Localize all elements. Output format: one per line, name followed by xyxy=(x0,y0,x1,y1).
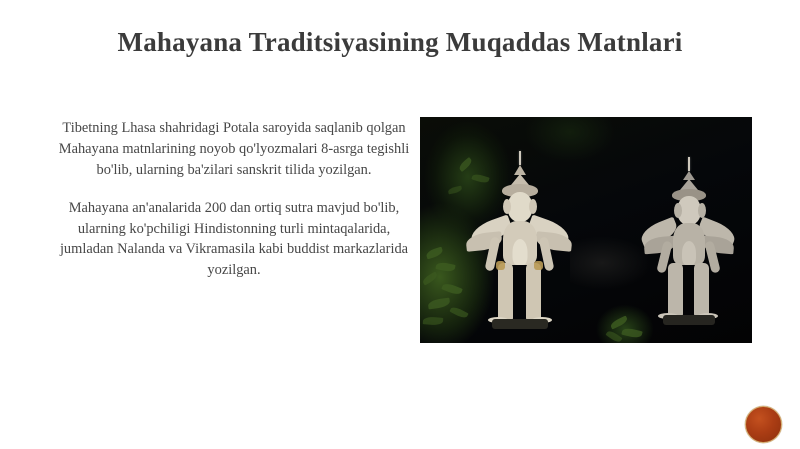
background-shadow xyxy=(570,237,650,289)
statue-ear xyxy=(674,203,682,218)
statue-praying-hands xyxy=(513,239,528,265)
statue-praying-hands xyxy=(682,241,696,265)
statue-photo xyxy=(420,117,752,343)
statue-ornament xyxy=(496,261,505,270)
paragraph-1: Tibetning Lhasa shahridagi Potala saroyi… xyxy=(58,118,410,181)
statue-ornament xyxy=(534,261,543,270)
page-title: Mahayana Traditsiyasining Muqaddas Matnl… xyxy=(60,26,740,58)
statue-ear xyxy=(529,199,537,214)
circle-accent-decoration xyxy=(745,406,782,443)
body-text-block: Tibetning Lhasa shahridagi Potala saroyi… xyxy=(58,118,410,281)
slide-canvas: Mahayana Traditsiyasining Muqaddas Matnl… xyxy=(0,0,800,449)
statue-right xyxy=(646,163,732,335)
statue-left xyxy=(472,155,568,335)
statue-ear xyxy=(503,199,511,214)
paragraph-2: Mahayana an'analarida 200 dan ortiq sutr… xyxy=(58,198,410,282)
statue-ear xyxy=(698,203,706,218)
